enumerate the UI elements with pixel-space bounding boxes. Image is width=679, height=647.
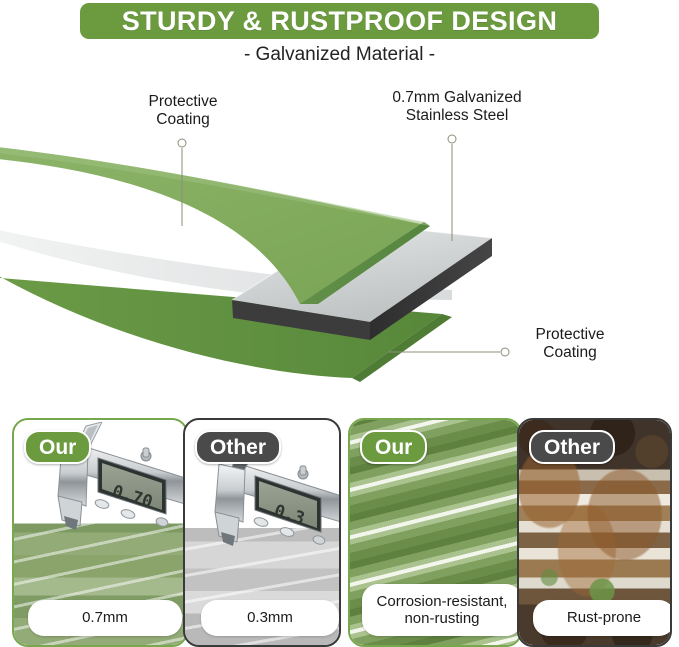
panel-other-corrosion[interactable]: Other Rust-prone [517, 418, 672, 647]
label-line-1: Protective [490, 326, 650, 344]
badge-our: Our [360, 430, 427, 464]
badge-other: Other [195, 430, 281, 464]
label-protective-coating-bottom: Protective Coating [490, 326, 650, 363]
comparison-panels: 0.70 Our 0.7mm [0, 410, 679, 645]
title-banner: STURDY & RUSTPROOF DESIGN [80, 3, 599, 39]
label-line-2: Coating [490, 344, 650, 362]
label-galvanized-stainless-steel: 0.7mm Galvanized Stainless Steel [362, 89, 552, 126]
panel-our-thickness[interactable]: 0.70 Our 0.7mm [12, 418, 188, 647]
caption-line-1: Corrosion-resistant, [377, 593, 508, 610]
page-title: STURDY & RUSTPROOF DESIGN [122, 8, 558, 35]
badge-our: Our [24, 430, 91, 464]
exploded-layer-diagram: Protective Coating 0.7mm Galvanized Stai… [0, 78, 679, 408]
leader-marker-coating-top [178, 139, 186, 147]
panel-other-thickness[interactable]: 0.3 Other 0.3mm [183, 418, 341, 647]
subtitle: - Galvanized Material - [0, 44, 679, 66]
caption-line-2: non-rusting [404, 610, 479, 627]
caption-thickness-our: 0.7mm [28, 600, 182, 636]
leader-marker-steel [448, 135, 456, 143]
label-line-1: Protective [108, 93, 258, 111]
label-line-2: Stainless Steel [362, 107, 552, 125]
label-line-2: Coating [108, 111, 258, 129]
caption-thickness-other: 0.3mm [201, 600, 339, 636]
infographic-page: STURDY & RUSTPROOF DESIGN - Galvanized M… [0, 0, 679, 645]
label-protective-coating-top: Protective Coating [108, 93, 258, 130]
header: STURDY & RUSTPROOF DESIGN - Galvanized M… [0, 0, 679, 78]
caption-corrosion-other: Rust-prone [533, 600, 672, 636]
caption-corrosion-our: Corrosion-resistant, non-rusting [362, 584, 522, 636]
corrosion-comparison-group: Our Corrosion-resistant, non-rusting Oth… [348, 418, 668, 643]
thickness-comparison-group: 0.70 Our 0.7mm [12, 418, 337, 643]
label-line-1: 0.7mm Galvanized [362, 89, 552, 107]
badge-other: Other [529, 430, 615, 464]
panel-our-corrosion[interactable]: Our Corrosion-resistant, non-rusting [348, 418, 522, 647]
